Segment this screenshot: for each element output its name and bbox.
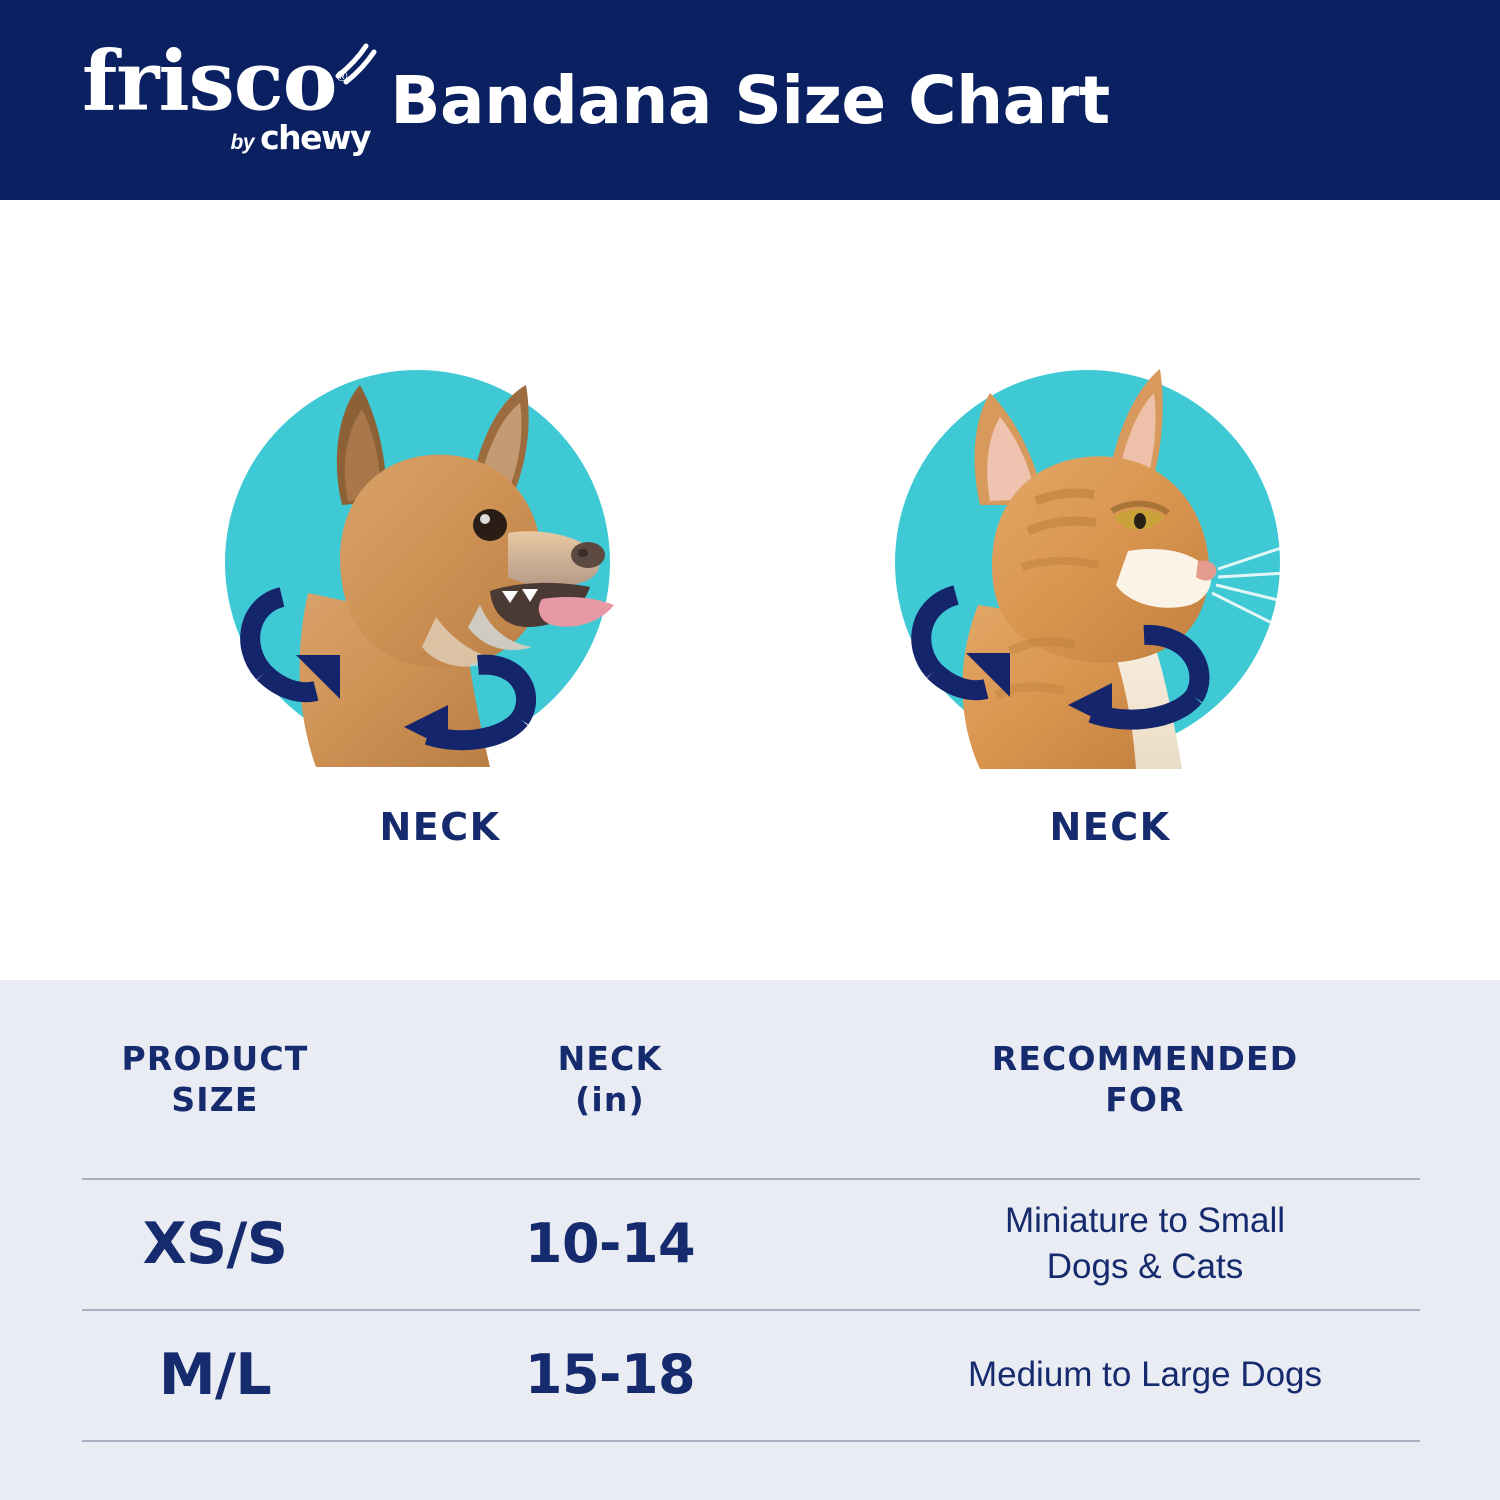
column-header-product-size: PRODUCT SIZE (0, 1038, 430, 1120)
dog-illustration (190, 355, 630, 795)
dog-neck-diagram: NECK (160, 355, 660, 915)
value-recommended-line2: Dogs & Cats (1047, 1244, 1243, 1290)
table-row: M/L 15-18 Medium to Large Dogs (0, 1309, 1500, 1440)
cell-product-size: XS/S (0, 1211, 430, 1277)
cell-neck-range: 10-14 (430, 1212, 790, 1275)
column-header-recommended-for: RECOMMENDED FOR (790, 1038, 1500, 1120)
value-product-size: M/L (159, 1342, 271, 1408)
value-neck-range: 10-14 (525, 1212, 695, 1275)
cat-artwork (860, 355, 1300, 795)
brand-wordmark-text: frisco (82, 33, 336, 129)
value-recommended-line1: Miniature to Small (1005, 1198, 1285, 1244)
cat-neck-label: NECK (890, 805, 1330, 849)
row-separator (82, 1309, 1420, 1311)
table-row: XS/S 10-14 Miniature to Small Dogs & Cat… (0, 1178, 1500, 1309)
cell-recommended-for: Miniature to Small Dogs & Cats (790, 1198, 1500, 1290)
dog-artwork (190, 355, 630, 795)
col-head-recommended: RECOMMENDED (992, 1038, 1299, 1079)
column-header-neck: NECK (in) (430, 1038, 790, 1120)
value-recommended-line1: Medium to Large Dogs (968, 1352, 1322, 1398)
row-separator (82, 1178, 1420, 1180)
col-head-neck-unit: (in) (575, 1079, 645, 1120)
cell-recommended-for: Medium to Large Dogs (790, 1352, 1500, 1398)
cat-illustration (860, 355, 1300, 795)
table-header-row: PRODUCT SIZE NECK (in) RECOMMENDED FOR (0, 980, 1500, 1178)
brand-wordmark: frisco® (82, 36, 374, 122)
frisco-by-chewy-logo: frisco® bychewy (74, 36, 374, 166)
brand-by-label: by (231, 131, 255, 154)
cat-head-shape (962, 369, 1286, 769)
col-head-product: PRODUCT (122, 1038, 309, 1079)
value-product-size: XS/S (143, 1211, 288, 1277)
illustration-area: NECK (0, 200, 1500, 980)
col-head-neck: NECK (558, 1038, 663, 1079)
value-neck-range: 15-18 (525, 1343, 695, 1406)
table-grid: PRODUCT SIZE NECK (in) RECOMMENDED FOR X… (0, 980, 1500, 1440)
cell-product-size: M/L (0, 1342, 430, 1408)
cat-neck-diagram: NECK (830, 355, 1330, 915)
dog-head-shape (300, 385, 614, 767)
dog-neck-label: NECK (220, 805, 660, 849)
col-head-size: SIZE (171, 1079, 258, 1120)
page-header: frisco® bychewy Bandana Size Chart (0, 0, 1500, 200)
row-separator (82, 1440, 1420, 1442)
cell-neck-range: 15-18 (430, 1343, 790, 1406)
col-head-for: FOR (1105, 1079, 1185, 1120)
size-chart-table: PRODUCT SIZE NECK (in) RECOMMENDED FOR X… (0, 980, 1500, 1500)
registered-trademark-icon: ® (336, 68, 347, 85)
